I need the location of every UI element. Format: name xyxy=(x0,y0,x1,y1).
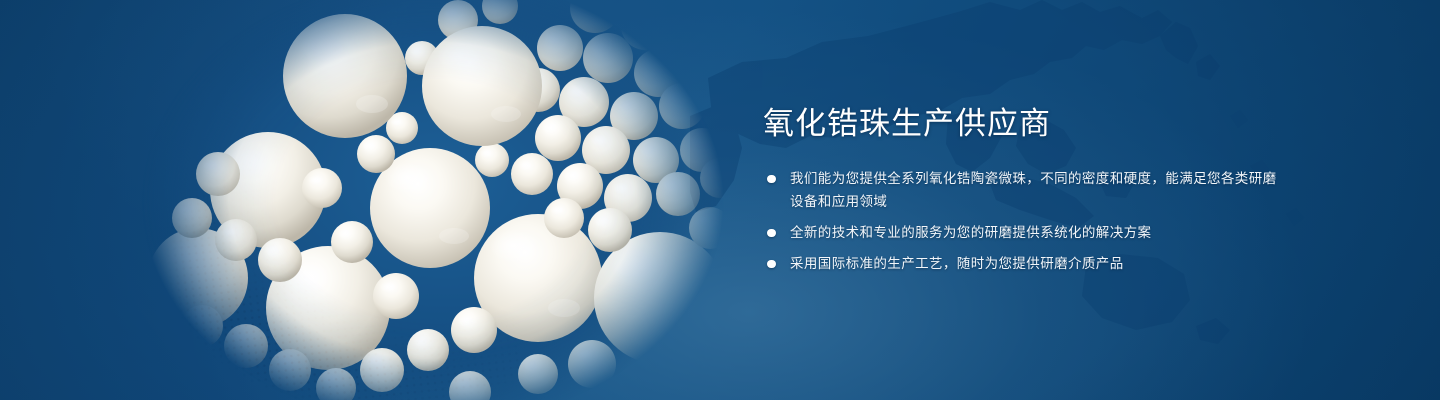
bullet-dot-icon xyxy=(767,175,776,184)
bullet-dot-icon xyxy=(767,260,776,269)
banner-bullet-list: 我们能为您提供全系列氧化锆陶瓷微珠，不同的密度和硬度，能满足您各类研磨设备和应用… xyxy=(763,167,1283,275)
banner-copy: 氧化锆珠生产供应商 我们能为您提供全系列氧化锆陶瓷微珠，不同的密度和硬度，能满足… xyxy=(763,104,1283,275)
list-item: 我们能为您提供全系列氧化锆陶瓷微珠，不同的密度和硬度，能满足您各类研磨设备和应用… xyxy=(763,167,1283,213)
list-item: 采用国际标准的生产工艺，随时为您提供研磨介质产品 xyxy=(763,252,1283,275)
bullet-dot-icon xyxy=(767,229,776,238)
list-item-text: 全新的技术和专业的服务为您的研磨提供系统化的解决方案 xyxy=(790,225,1151,240)
list-item: 全新的技术和专业的服务为您的研磨提供系统化的解决方案 xyxy=(763,221,1283,244)
banner-headline: 氧化锆珠生产供应商 xyxy=(763,104,1283,144)
hero-banner: 氧化锆珠生产供应商 我们能为您提供全系列氧化锆陶瓷微珠，不同的密度和硬度，能满足… xyxy=(0,0,1440,400)
list-item-text: 我们能为您提供全系列氧化锆陶瓷微珠，不同的密度和硬度，能满足您各类研磨设备和应用… xyxy=(790,171,1277,209)
list-item-text: 采用国际标准的生产工艺，随时为您提供研磨介质产品 xyxy=(790,256,1124,271)
